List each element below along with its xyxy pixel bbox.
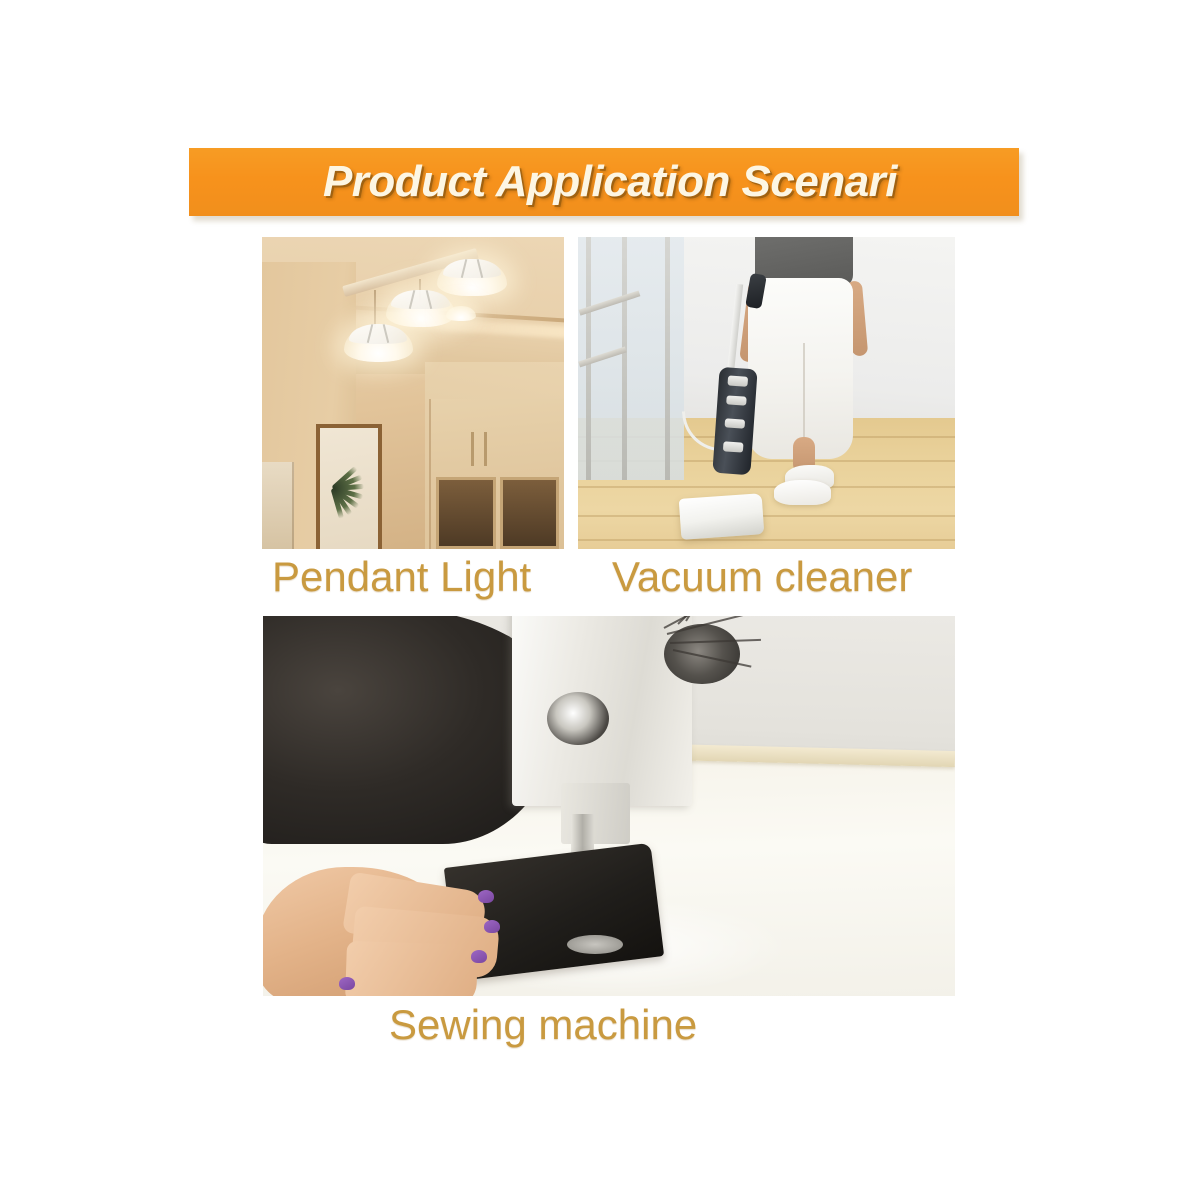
cabinet-handle-right	[484, 432, 487, 466]
wall-art-frame	[316, 424, 381, 549]
vacuum-button-1	[727, 376, 747, 387]
person-shoe-front	[774, 480, 831, 505]
caption-pendant-light: Pendant Light	[272, 553, 531, 601]
vacuum-button-3	[724, 418, 744, 429]
cabinet-handle-left	[471, 432, 474, 466]
pendant-rod-1	[374, 290, 376, 328]
needle-plate	[567, 935, 622, 954]
nail-thumb	[339, 977, 355, 990]
title-banner: Product Application Scenari	[189, 148, 1019, 216]
product-application-page: Product Application Scenari	[0, 0, 1200, 1200]
nail-2	[484, 920, 500, 933]
photo-vacuum-cleaner	[578, 237, 955, 549]
nail-3	[471, 950, 487, 963]
thread-spool-tangle	[651, 616, 789, 692]
lamp-shade-2	[391, 290, 449, 309]
page-title: Product Application Scenari	[323, 157, 897, 207]
person-trousers	[748, 278, 854, 459]
cabinet	[429, 399, 564, 549]
bobbin-winder	[547, 692, 609, 745]
mullion-2	[622, 237, 627, 480]
cabinet-panel-right	[500, 477, 559, 549]
vacuum-button-4	[723, 442, 743, 453]
photo-sewing-machine	[263, 616, 955, 996]
caption-sewing-machine: Sewing machine	[389, 1001, 697, 1049]
caption-vacuum-cleaner: Vacuum cleaner	[612, 553, 912, 601]
mullion-3	[665, 237, 670, 480]
vacuum-body	[712, 367, 757, 475]
trouser-seam	[803, 343, 805, 452]
nail-1	[478, 890, 494, 903]
photo-pendant-light	[262, 237, 564, 549]
pendant-lamp-2	[386, 290, 455, 327]
vacuum-button-2	[726, 395, 746, 406]
finger-3	[345, 941, 479, 996]
glass-partition	[578, 237, 684, 480]
vacuum-floor-head	[678, 493, 764, 539]
recessed-light	[446, 306, 476, 322]
cabinet-panel-left	[436, 477, 495, 549]
door-edge	[262, 462, 294, 549]
